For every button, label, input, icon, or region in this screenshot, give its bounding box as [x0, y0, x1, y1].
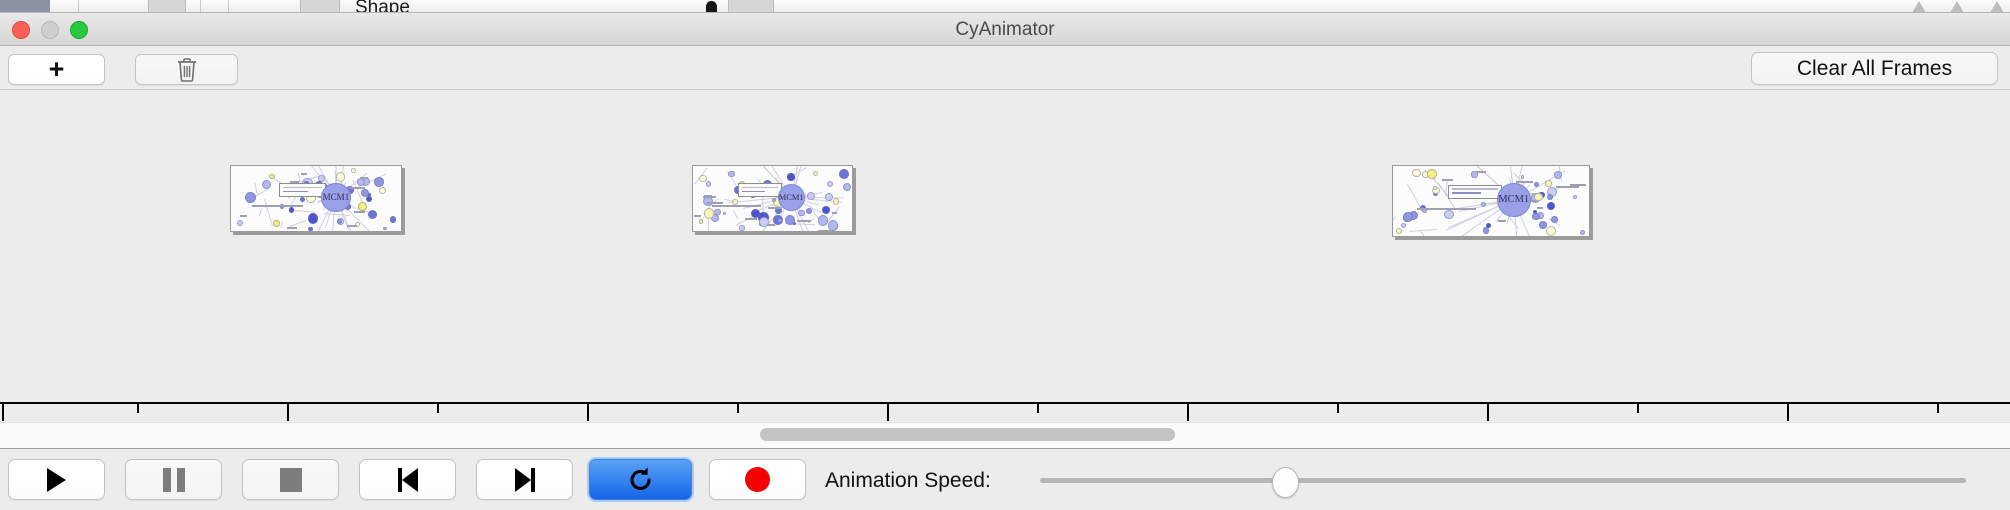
graph-node-label [349, 187, 364, 189]
playback-control-bar: Animation Speed: [0, 448, 2010, 510]
graph-node [1539, 221, 1547, 229]
graph-node [308, 213, 319, 224]
graph-node [723, 212, 726, 215]
graph-node [1521, 175, 1524, 178]
graph-node-label [1570, 184, 1587, 186]
timeline-tick [587, 404, 589, 421]
timeline-tick [1187, 404, 1189, 421]
timeline-tick [1337, 404, 1339, 413]
graph-node [269, 174, 274, 179]
skip-previous-icon [398, 468, 418, 492]
graph-node [1573, 195, 1577, 199]
graph-node [1534, 182, 1539, 187]
graph-node [351, 168, 356, 173]
graph-node [699, 219, 704, 224]
plus-icon: + [49, 56, 65, 83]
previous-frame-button[interactable] [359, 459, 456, 500]
graph-node-label [240, 215, 248, 217]
loop-button[interactable] [589, 459, 692, 500]
graph-node [1401, 223, 1406, 228]
graph-node [728, 171, 735, 178]
next-frame-button[interactable] [476, 459, 573, 500]
animation-speed-label: Animation Speed: [825, 469, 991, 493]
timeline-tick [1637, 404, 1639, 413]
graph-node [798, 210, 804, 216]
stop-icon [280, 468, 302, 492]
graph-tooltip-box [1448, 185, 1501, 199]
graph-node [1412, 169, 1420, 177]
timeline-tick [437, 404, 439, 413]
graph-node-label [818, 230, 831, 232]
graph-annotation-line [712, 205, 760, 207]
stop-button[interactable] [242, 459, 339, 500]
graph-node [699, 175, 706, 182]
timeline-tick [887, 404, 889, 421]
graph-annotation-line [1417, 208, 1476, 210]
timeline-scrollbar-thumb[interactable] [760, 428, 1175, 441]
graph-node [1546, 226, 1556, 236]
graph-node [379, 187, 386, 194]
graph-node [1483, 227, 1490, 234]
timeline-scrollbar[interactable] [0, 422, 2010, 448]
graph-node [843, 183, 851, 191]
graph-node [273, 220, 280, 227]
graph-node [785, 215, 795, 225]
background-window-menu-text: Shape [355, 0, 410, 13]
graph-node [806, 208, 812, 214]
timeline-panel[interactable]: MCM1MCM1MCM1 2131415161718 Seconds [0, 91, 2010, 422]
clear-all-frames-label: Clear All Frames [1797, 57, 1952, 81]
graph-node [1547, 194, 1553, 200]
animation-speed-slider-knob[interactable] [1272, 467, 1299, 498]
graph-node [739, 225, 744, 230]
network-graph-preview: MCM1 [231, 166, 401, 231]
graph-node [300, 197, 305, 202]
graph-node-label [768, 207, 782, 209]
graph-hub-node: MCM1 [321, 183, 350, 212]
graph-edge [289, 220, 306, 227]
graph-node-label [694, 215, 701, 217]
graph-node [1580, 230, 1585, 235]
timeline-axis-line [0, 402, 2010, 404]
graph-hub-node: MCM1 [1497, 183, 1531, 217]
graph-node-label [704, 195, 712, 197]
graph-edge [280, 222, 283, 228]
graph-node [1403, 212, 1413, 222]
add-frame-button[interactable]: + [8, 54, 105, 85]
graph-node [1547, 202, 1555, 210]
loop-icon [626, 465, 656, 495]
record-icon [745, 467, 770, 492]
network-graph-preview: MCM1 [1393, 166, 1589, 236]
graph-node [390, 216, 397, 223]
graph-edge [264, 199, 273, 226]
trash-icon [176, 57, 198, 83]
graph-node-label [745, 218, 758, 220]
graph-edge [259, 208, 262, 215]
graph-node [308, 227, 312, 231]
graph-node [237, 220, 243, 226]
timeline-tick [1037, 404, 1039, 413]
graph-annotation-line [252, 205, 304, 207]
graph-node [825, 193, 833, 201]
graph-node-label [301, 173, 307, 175]
graph-node [1444, 210, 1453, 219]
graph-node [1532, 213, 1539, 220]
timeline-tick [287, 404, 289, 421]
graph-node-label [360, 177, 368, 179]
graph-node [1427, 169, 1437, 179]
keyframe-thumbnail[interactable]: MCM1 [1392, 165, 1590, 237]
graph-node [383, 227, 386, 230]
graph-node [787, 173, 794, 180]
graph-node [1481, 202, 1486, 207]
graph-node [336, 172, 345, 181]
delete-frame-button[interactable] [135, 54, 238, 85]
graph-node [827, 181, 833, 187]
graph-node [262, 180, 271, 189]
graph-edge [708, 219, 709, 232]
graph-node [732, 199, 738, 205]
timeline-tick [1487, 404, 1489, 421]
graph-node-label [1525, 181, 1533, 183]
graph-node [245, 192, 256, 203]
graph-node [839, 169, 849, 179]
graph-edge [1420, 231, 1433, 237]
skip-next-icon [515, 468, 535, 492]
network-graph-preview: MCM1 [693, 166, 852, 231]
play-button[interactable] [8, 459, 105, 500]
graph-edge [1392, 217, 1396, 224]
graph-node [813, 171, 818, 176]
graph-node-label [1556, 186, 1568, 188]
graph-hub-node: MCM1 [778, 184, 805, 211]
graph-node-label [347, 225, 357, 227]
record-button[interactable] [709, 459, 806, 500]
timeline-tick [137, 404, 139, 413]
frame-toolbar: + Clear All Frames [0, 46, 2010, 90]
keyframe-thumbnail[interactable]: MCM1 [230, 165, 402, 232]
pause-icon [163, 468, 185, 492]
graph-node [1486, 223, 1491, 228]
graph-tooltip-box [738, 183, 781, 196]
cyanimator-window: Shape CyAnimator + Clear All Fram [0, 0, 2010, 510]
timeline-tick [1937, 404, 1939, 413]
keyframe-thumbnail[interactable]: MCM1 [692, 165, 853, 232]
graph-node-label [287, 227, 297, 229]
graph-node [1545, 180, 1551, 186]
graph-node [374, 177, 384, 187]
timeline-tick [2, 404, 4, 421]
pause-button[interactable] [125, 459, 222, 500]
graph-node [358, 202, 367, 211]
play-icon [47, 468, 66, 492]
timeline-tick [1787, 404, 1789, 421]
graph-node-label [797, 220, 810, 222]
background-window-strip: Shape [0, 0, 2010, 13]
graph-node [1396, 228, 1402, 234]
graph-node [704, 208, 714, 218]
title-bar: CyAnimator [0, 13, 2010, 46]
graph-node [822, 206, 830, 214]
timeline-tick [737, 404, 739, 413]
graph-node [818, 215, 828, 225]
graph-node [833, 198, 840, 205]
clear-all-frames-button[interactable]: Clear All Frames [1751, 52, 1998, 85]
graph-node [706, 181, 711, 186]
graph-node-label [1498, 220, 1506, 222]
graph-node [1551, 216, 1558, 223]
graph-node-label [832, 212, 837, 214]
graph-node-label [1442, 179, 1453, 181]
animation-speed-slider[interactable] [1040, 478, 1966, 483]
graph-node-label [1476, 171, 1486, 173]
graph-node-label [1537, 207, 1543, 209]
graph-edge [1409, 229, 1437, 232]
graph-node [368, 210, 377, 219]
graph-node [289, 207, 295, 213]
graph-tooltip-box [279, 183, 325, 196]
graph-node-label [354, 211, 365, 213]
window-title: CyAnimator [0, 13, 2010, 46]
graph-node-label [767, 224, 774, 226]
graph-edge [734, 211, 738, 219]
